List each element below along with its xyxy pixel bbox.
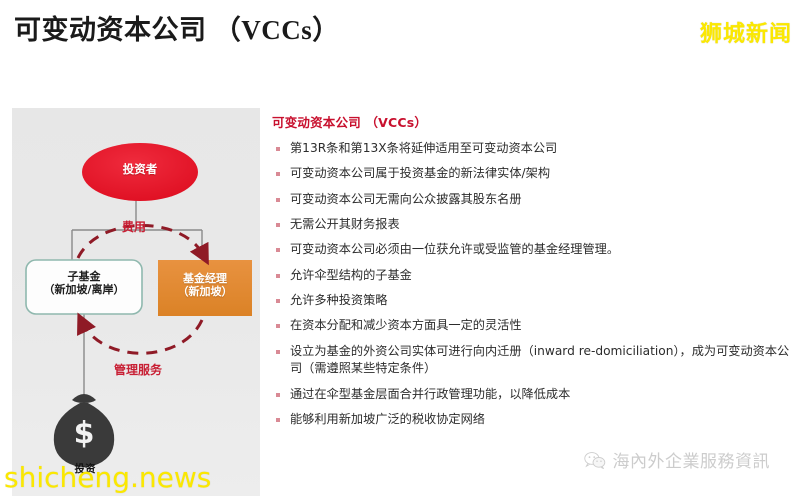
node-subfund xyxy=(26,260,142,314)
bullet-item: 可变动资本公司无需向公众披露其股东名册 xyxy=(272,191,792,209)
site-watermark: shicheng.news xyxy=(4,461,211,494)
bullet-text: 允许伞型结构的子基金 xyxy=(290,267,792,285)
bullet-text: 允许多种投资策略 xyxy=(290,292,792,310)
bullet-marker-icon xyxy=(276,172,280,176)
bullet-text: 能够利用新加坡广泛的税收协定网络 xyxy=(290,411,792,429)
svg-text:$: $ xyxy=(74,416,95,451)
content-column: 可变动资本公司 （VCCs） 第13R条和第13X条将延伸适用至可变动资本公司可… xyxy=(272,112,792,436)
bullet-item: 通过在伞型基金层面合并行政管理功能，以降低成本 xyxy=(272,386,792,404)
bullet-item: 在资本分配和减少资本方面具一定的灵活性 xyxy=(272,317,792,335)
page-title: 可变动资本公司 （VCCs） xyxy=(14,8,340,47)
wechat-watermark-text: 海內外企業服務資訊 xyxy=(613,447,771,472)
bullet-item: 允许伞型结构的子基金 xyxy=(272,267,792,285)
bullet-marker-icon xyxy=(276,248,280,252)
diagram-panel: $ 投资者 子基金 （新加坡/离岸） 基金经理 （新加坡） 费用 管理服务 投资 xyxy=(12,108,260,496)
bullet-item: 能够利用新加坡广泛的税收协定网络 xyxy=(272,411,792,429)
bullet-text: 可变动资本公司属于投资基金的新法律实体/架构 xyxy=(290,165,792,183)
node-manager xyxy=(158,260,252,316)
bullet-marker-icon xyxy=(276,147,280,151)
wechat-icon xyxy=(584,451,606,469)
bullet-list: 第13R条和第13X条将延伸适用至可变动资本公司可变动资本公司属于投资基金的新法… xyxy=(272,140,792,429)
bullet-text: 可变动资本公司必须由一位获允许或受监管的基金经理管理。 xyxy=(290,241,792,259)
money-bag-icon: $ xyxy=(54,394,114,467)
bullet-marker-icon xyxy=(276,418,280,422)
bullet-item: 设立为基金的外资公司实体可进行向内迁册（inward re-domiciliat… xyxy=(272,343,792,379)
bullet-text: 第13R条和第13X条将延伸适用至可变动资本公司 xyxy=(290,140,792,158)
bullet-text: 无需公开其财务报表 xyxy=(290,216,792,234)
diagram-graphics: $ xyxy=(12,108,260,496)
bullet-item: 允许多种投资策略 xyxy=(272,292,792,310)
bullet-text: 通过在伞型基金层面合并行政管理功能，以降低成本 xyxy=(290,386,792,404)
bullet-item: 可变动资本公司属于投资基金的新法律实体/架构 xyxy=(272,165,792,183)
bullet-text: 设立为基金的外资公司实体可进行向内迁册（inward re-domiciliat… xyxy=(290,343,792,379)
wechat-watermark: 海內外企業服務資訊 xyxy=(584,447,771,472)
bullet-marker-icon xyxy=(276,274,280,278)
flow-service-arc xyxy=(82,320,202,353)
bullet-marker-icon xyxy=(276,223,280,227)
content-heading: 可变动资本公司 （VCCs） xyxy=(272,112,792,131)
bullet-text: 可变动资本公司无需向公众披露其股东名册 xyxy=(290,191,792,209)
bullet-marker-icon xyxy=(276,393,280,397)
bullet-marker-icon xyxy=(276,324,280,328)
bullet-marker-icon xyxy=(276,299,280,303)
bullet-item: 无需公开其财务报表 xyxy=(272,216,792,234)
bullet-item: 可变动资本公司必须由一位获允许或受监管的基金经理管理。 xyxy=(272,241,792,259)
bullet-marker-icon xyxy=(276,350,280,354)
brand-watermark-top: 狮城新闻 xyxy=(700,16,792,48)
bullet-text: 在资本分配和减少资本方面具一定的灵活性 xyxy=(290,317,792,335)
bullet-marker-icon xyxy=(276,198,280,202)
node-investors xyxy=(82,143,198,201)
bullet-item: 第13R条和第13X条将延伸适用至可变动资本公司 xyxy=(272,140,792,158)
